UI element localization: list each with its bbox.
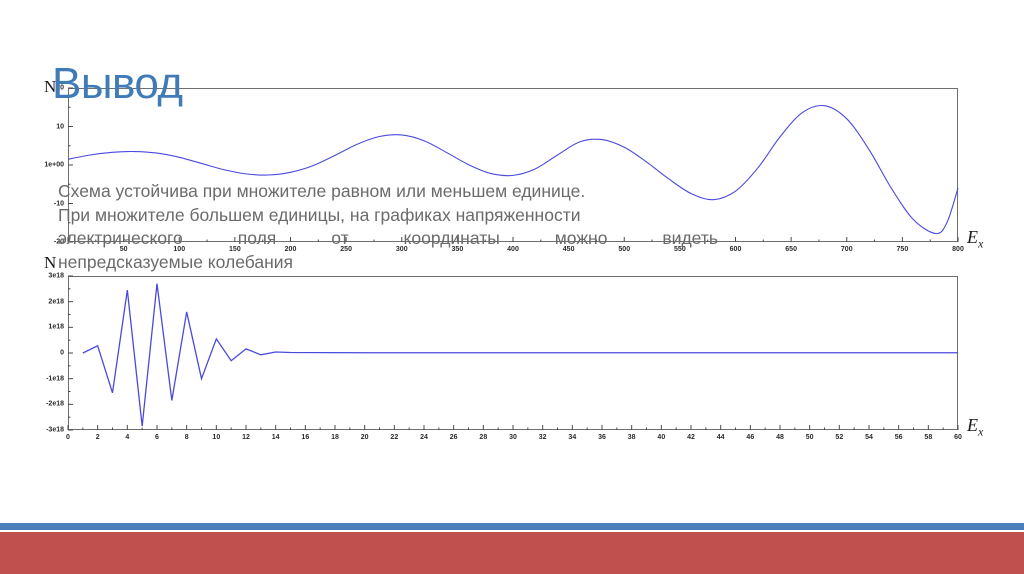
bottom-chart-y-tick-label: 0 <box>28 350 64 357</box>
body-text-line-4: непредсказуемые колебания <box>58 251 958 275</box>
bottom-chart-x-tick-label: 20 <box>361 434 369 441</box>
bottom-chart-y-tick-label: 1e18 <box>28 324 64 331</box>
bottom-chart-x-tick-label: 14 <box>272 434 280 441</box>
bottom-chart-x-tick-label: 22 <box>390 434 398 441</box>
body-text-line-3-word-2: от <box>331 227 348 251</box>
bottom-chart-x-tick-label: 60 <box>954 434 962 441</box>
body-text-line-3-word-5: видеть <box>662 227 718 251</box>
bottom-chart-x-tick-label: 40 <box>657 434 665 441</box>
bottom-x-axis-symbol: E <box>967 415 978 435</box>
bottom-chart-x-tick-label: 36 <box>598 434 606 441</box>
bottom-chart-x-tick-label: 52 <box>835 434 843 441</box>
body-text-line-3-word-0: электрического <box>58 227 183 251</box>
bottom-chart-x-tick-label: 24 <box>420 434 428 441</box>
bottom-x-axis-subscript: x <box>978 425 983 439</box>
bottom-chart-x-tick-label: 56 <box>895 434 903 441</box>
bottom-chart-x-tick-label: 54 <box>865 434 873 441</box>
bottom-chart-x-tick-label: 4 <box>125 434 129 441</box>
bottom-chart-x-tick-label: 32 <box>539 434 547 441</box>
bottom-chart-x-tick-label: 8 <box>185 434 189 441</box>
bottom-chart-x-tick-label: 30 <box>509 434 517 441</box>
bottom-chart-y-tick-label: 2e18 <box>28 298 64 305</box>
bottom-chart-x-tick-label: 26 <box>450 434 458 441</box>
body-text-line-2: При множителе большем единицы, на график… <box>58 204 958 228</box>
bottom-chart-x-tick-label: 44 <box>717 434 725 441</box>
bottom-chart-x-tick-label: 12 <box>242 434 250 441</box>
bottom-chart-data-line <box>83 284 958 426</box>
body-text-line-3-word-4: можно <box>555 227 608 251</box>
bottom-chart-x-tick-label: 18 <box>331 434 339 441</box>
bottom-chart-y-tick-label: -1e18 <box>28 375 64 382</box>
page-title: Вывод <box>52 62 183 106</box>
bottom-chart-x-tick-label: 48 <box>776 434 784 441</box>
bottom-chart-x-tick-label: 28 <box>479 434 487 441</box>
bottom-chart-x-tick-label: 42 <box>687 434 695 441</box>
bottom-chart-x-tick-label: 6 <box>155 434 159 441</box>
body-text-line-1: Схема устойчива при множителе равном или… <box>58 180 958 204</box>
bottom-chart-x-tick-label: 2 <box>96 434 100 441</box>
body-text-line-3-word-3: координаты <box>404 227 500 251</box>
bottom-chart-y-tick-label: -3e18 <box>28 427 64 434</box>
bottom-chart-x-tick-label: 46 <box>746 434 754 441</box>
body-text-line-3: электрическогополяоткоординатыможновидет… <box>58 227 718 251</box>
body-text-block: Схема устойчива при множителе равном или… <box>58 180 958 274</box>
bottom-chart-x-tick-label: 0 <box>66 434 70 441</box>
body-text-line-3-word-1: поля <box>238 227 277 251</box>
bottom-chart-x-tick-label: 10 <box>212 434 220 441</box>
bottom-chart-y-tick-label: -2e18 <box>28 401 64 408</box>
bottom-chart-x-tick-label: 50 <box>806 434 814 441</box>
bottom-chart-x-tick-label: 16 <box>301 434 309 441</box>
bottom-chart-x-tick-label: 38 <box>628 434 636 441</box>
bottom-chart-x-axis-label: Ex <box>967 416 983 438</box>
bottom-chart-x-tick-label: 58 <box>924 434 932 441</box>
bottom-chart-x-tick-label: 34 <box>568 434 576 441</box>
